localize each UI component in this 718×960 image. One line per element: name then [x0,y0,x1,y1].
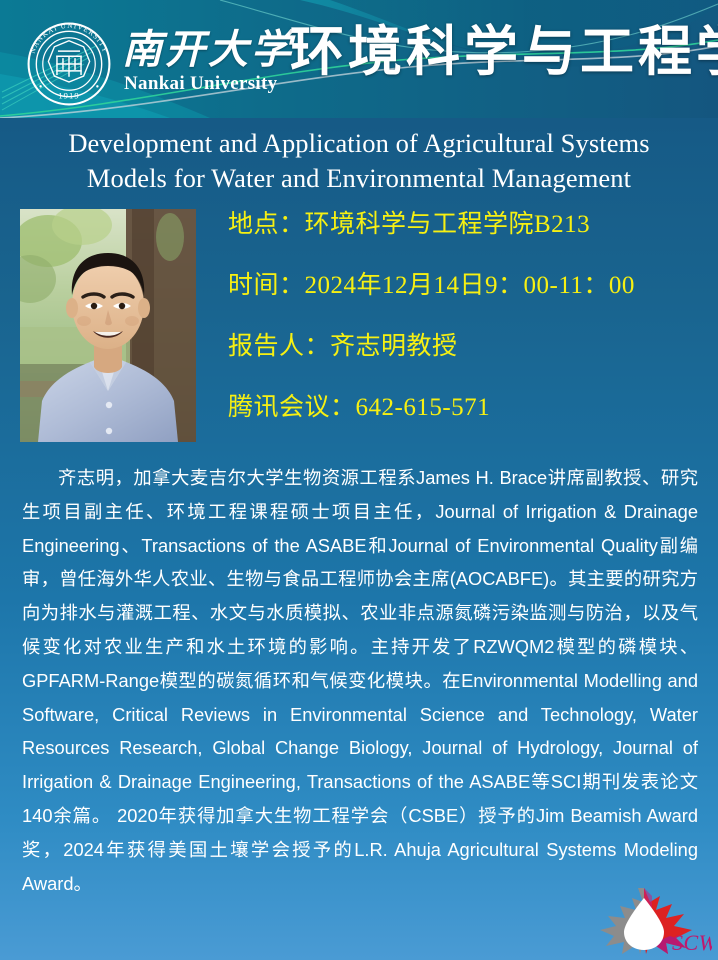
brand-name-chinese: 南开大学 [122,30,294,70]
poster-title-line-2: Models for Water and Environmental Manag… [34,161,684,196]
brand-name-english: Nankai University [124,74,277,93]
event-time: 时间：2024年12月14日9：00-11：00 [228,273,698,298]
speaker-portrait-image [20,209,196,442]
event-speaker: 报告人：齐志明教授 [228,334,698,359]
seminar-poster: NANKAI UNIVERSITY 1919 南开大学 Nankai Unive… [0,0,718,960]
nankai-university-seal-icon: NANKAI UNIVERSITY 1919 [26,21,112,107]
scwe-wordmark: SCWE [672,930,712,955]
event-location: 地点：环境科学与工程学院B213 [228,212,698,237]
poster-header: NANKAI UNIVERSITY 1919 南开大学 Nankai Unive… [0,0,718,118]
poster-title-line-1: Development and Application of Agricultu… [34,126,684,161]
event-meeting-id: 腾讯会议：642-615-571 [228,395,698,420]
speaker-biography: 齐志明，加拿大麦吉尔大学生物资源工程系James H. Brace讲席副教授、研… [22,461,698,900]
college-name-chinese: 环境科学与工程学院 [290,25,718,79]
event-info-block: 地点：环境科学与工程学院B213 时间：2024年12月14日9：00-11：0… [228,212,698,420]
seal-year-text: 1919 [58,90,79,100]
scwe-maple-leaf-droplet-logo: SCWE [580,880,712,958]
speaker-photo [20,209,196,442]
poster-title: Development and Application of Agricultu… [34,126,684,196]
